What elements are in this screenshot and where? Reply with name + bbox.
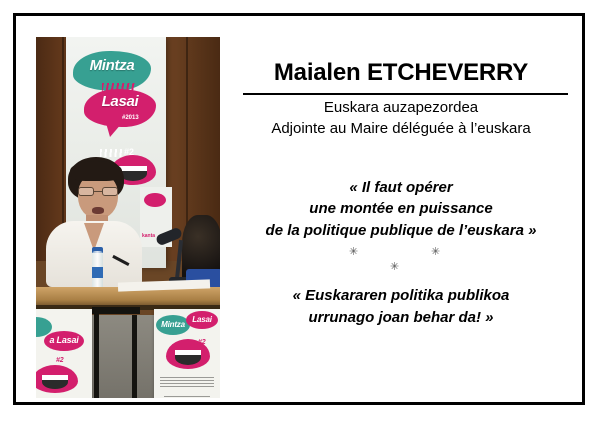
chair-frame-top [92, 307, 140, 314]
poster-word-lasai: a Lasai [42, 335, 86, 345]
seated-legs [92, 315, 154, 398]
banner-word-lasai: Lasai [86, 93, 154, 110]
speaker-glasses [78, 187, 118, 196]
role-basque: Euskara auzapezordea [231, 99, 571, 116]
banner-hashtag-year: #2013 [122, 115, 139, 121]
poster-body-text [160, 377, 214, 387]
table-poster-left: a Lasai #2 [36, 309, 92, 398]
black-frame: Mintza Lasai #2013 #2 kanta kanta [13, 13, 585, 405]
french-quote: « Il faut opérer une montée en puissance… [231, 177, 571, 241]
table-poster-right: Mintza Lasai #2 [154, 309, 220, 398]
french-quote-line-2: une montée en puissance [231, 198, 571, 219]
poster-mouth-graphic [36, 365, 78, 393]
secondary-banner-text: kanta [142, 233, 155, 239]
speaker-name-title: Maialen ETCHEVERRY [231, 59, 571, 87]
poster-word-mintza: Mintza [156, 320, 190, 329]
french-quote-line-1: « Il faut opérer [231, 177, 571, 198]
glasses-left-lens [78, 187, 94, 196]
speaker-fringe [70, 161, 122, 181]
poster-card: Mintza Lasai #2013 #2 kanta kanta [0, 0, 600, 424]
chair-leg [94, 309, 99, 398]
asterisk-icon: ✳ [390, 260, 399, 273]
banner-word-mintza: Mintza [76, 57, 148, 74]
basque-quote-line-1: « Euskararen politika publikoa [231, 285, 571, 307]
poster-mouth-teeth [175, 350, 201, 355]
basque-quote: « Euskararen politika publikoa urrunago … [231, 285, 571, 329]
french-quote-line-3: de la politique publique de l’euskara » [231, 220, 571, 241]
role-french: Adjointe au Maire déléguée à l’euskara [231, 120, 571, 137]
chair-leg [132, 315, 137, 398]
speaker-mouth [92, 207, 104, 214]
asterisk-separator: ✳ ✳ ✳ [231, 245, 571, 279]
banner-hatch-arrows [100, 149, 124, 157]
bottle-label [92, 267, 103, 278]
title-divider [243, 93, 568, 95]
secondary-banner-bubble [144, 193, 166, 207]
poster-mouth-teeth [42, 375, 68, 380]
basque-quote-line-2: urrunago joan behar da! » [231, 307, 571, 329]
poster-word-lasai: Lasai [186, 315, 218, 324]
glasses-right-lens [102, 187, 118, 196]
poster-body-text [164, 395, 210, 398]
text-panel: Maialen ETCHEVERRY Euskara auzapezordea … [231, 37, 581, 398]
bubble-tail [106, 123, 122, 137]
asterisk-icon: ✳ [431, 245, 440, 258]
poster-hashtag: #2 [198, 339, 205, 346]
asterisk-icon: ✳ [349, 245, 358, 258]
press-conference-photo: Mintza Lasai #2013 #2 kanta kanta [36, 37, 220, 398]
poster-hashtag: #2 [56, 357, 63, 364]
glasses-bridge [94, 191, 102, 192]
